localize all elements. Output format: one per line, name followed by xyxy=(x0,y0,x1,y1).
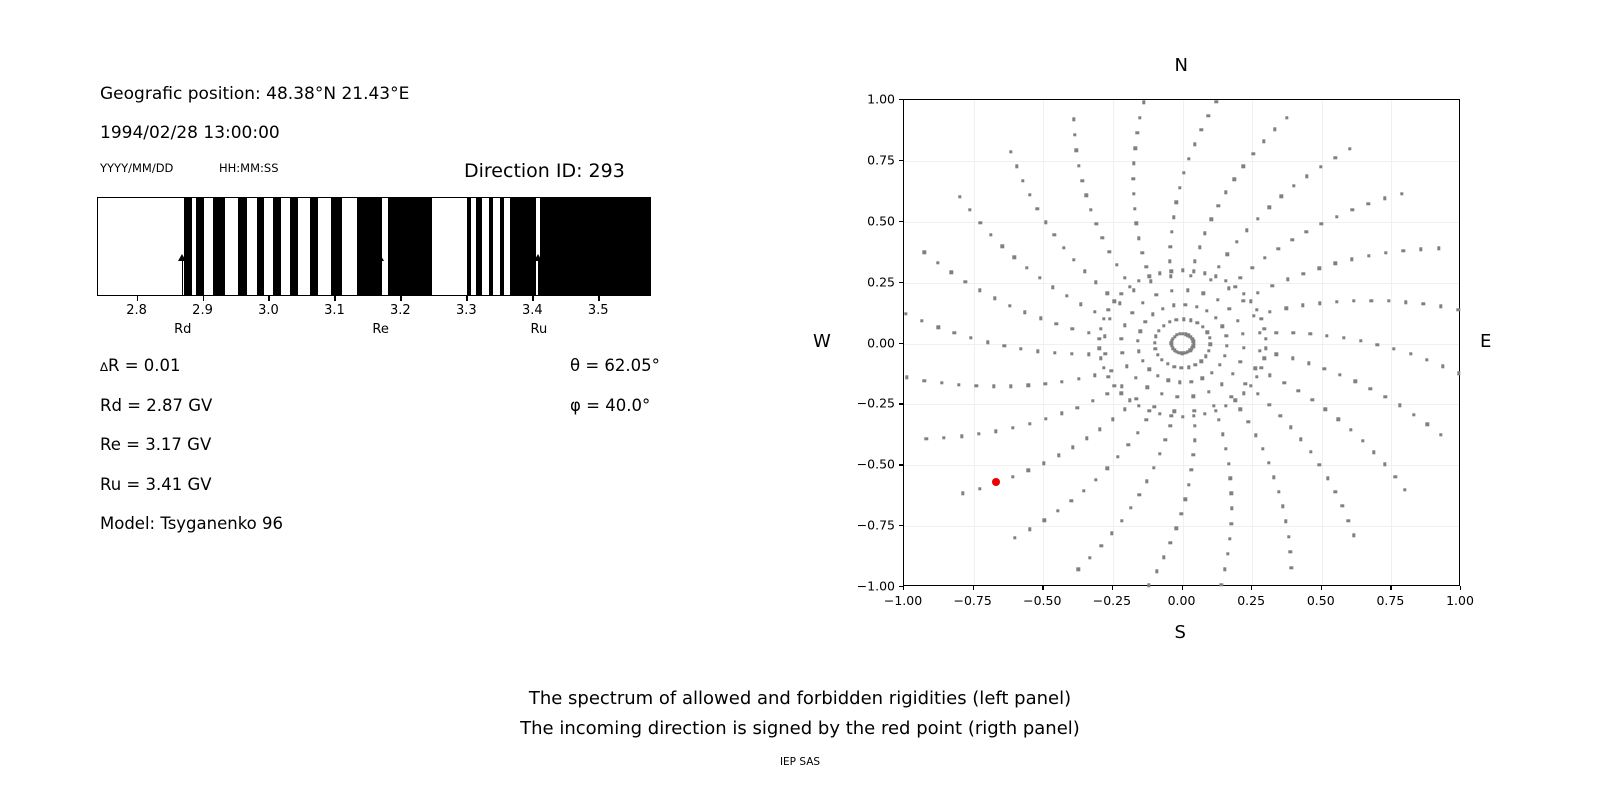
direction-grid-point xyxy=(961,492,964,495)
param-delta-r: ∆R = 0.01 xyxy=(100,356,181,375)
x-axis-tick-label: 1.00 xyxy=(1446,593,1474,608)
direction-grid-point xyxy=(1113,300,1116,303)
forbidden-band xyxy=(213,198,224,295)
direction-grid-point xyxy=(1093,374,1096,377)
direction-grid-point xyxy=(1349,428,1352,431)
direction-grid-point xyxy=(1036,350,1039,353)
direction-grid-point xyxy=(1203,232,1206,235)
direction-grid-point xyxy=(1422,302,1425,305)
direction-grid-point xyxy=(1372,451,1375,454)
direction-grid-point xyxy=(1170,230,1173,233)
direction-grid-point xyxy=(1333,490,1336,493)
direction-grid-point xyxy=(1062,246,1065,249)
direction-grid-point xyxy=(1457,371,1460,374)
direction-grid-point xyxy=(920,319,923,322)
x-axis-tick xyxy=(1251,586,1252,590)
direction-grid-point xyxy=(1264,337,1267,340)
direction-grid-point xyxy=(904,312,907,315)
direction-grid-point xyxy=(1256,217,1259,220)
direction-grid-point xyxy=(924,437,927,440)
direction-grid-point xyxy=(1106,467,1109,470)
direction-grid-point xyxy=(1325,334,1328,337)
direction-grid-point xyxy=(1102,317,1105,320)
direction-grid-point xyxy=(1153,341,1156,344)
direction-grid-point xyxy=(1220,383,1223,386)
direction-grid-point xyxy=(1094,478,1097,481)
direction-grid-point xyxy=(1261,447,1264,450)
direction-grid-point xyxy=(1145,418,1148,421)
direction-grid-point xyxy=(1354,380,1357,383)
direction-grid-point xyxy=(1111,418,1114,421)
direction-grid-point xyxy=(1350,258,1353,261)
x-axis-tick-label: −0.50 xyxy=(1023,593,1061,608)
direction-grid-point xyxy=(1193,424,1196,427)
direction-grid-point xyxy=(1342,336,1345,339)
direction-grid-point xyxy=(1286,278,1289,281)
direction-grid-point xyxy=(1065,294,1068,297)
y-axis-tick xyxy=(899,464,903,465)
direction-grid-point xyxy=(940,381,943,384)
direction-grid-point xyxy=(1252,152,1255,155)
forbidden-band xyxy=(467,198,471,295)
direction-grid-point xyxy=(1118,302,1121,305)
direction-grid-point xyxy=(1207,390,1210,393)
direction-grid-point xyxy=(1158,271,1161,274)
direction-grid-point xyxy=(1001,244,1004,247)
direction-grid-point xyxy=(1324,408,1327,411)
forbidden-band xyxy=(184,198,192,295)
direction-grid-point xyxy=(1251,266,1254,269)
direction-grid-point xyxy=(1056,509,1059,512)
forbidden-band xyxy=(196,198,204,295)
geographic-position-text: Geografic position: 48.38°N 21.43°E xyxy=(100,84,409,104)
direction-grid-point xyxy=(1275,353,1278,356)
direction-grid-point xyxy=(1168,424,1171,427)
arrow-head-icon xyxy=(376,254,384,261)
direction-grid-point xyxy=(1268,403,1271,406)
direction-grid-point xyxy=(1178,332,1181,335)
direction-grid-point xyxy=(1169,245,1172,248)
spectrum-axis-tick xyxy=(400,296,401,301)
gridline-vertical xyxy=(1391,100,1392,585)
direction-grid-point xyxy=(1277,490,1280,493)
direction-grid-point xyxy=(1180,366,1183,369)
direction-grid-point xyxy=(1290,238,1293,241)
direction-grid-point xyxy=(1196,321,1199,324)
direction-grid-point xyxy=(1318,463,1321,466)
direction-grid-point xyxy=(1392,347,1395,350)
direction-grid-point xyxy=(1228,537,1231,540)
direction-grid-point xyxy=(1192,453,1195,456)
direction-grid-point xyxy=(1361,439,1364,442)
direction-grid-point xyxy=(1134,376,1137,379)
y-axis-tick xyxy=(899,343,903,344)
direction-grid-point xyxy=(1137,404,1140,407)
direction-grid-point xyxy=(1271,284,1274,287)
gridline-vertical xyxy=(1043,100,1044,585)
direction-grid-point xyxy=(1249,300,1252,303)
direction-grid-point xyxy=(942,436,945,439)
gridline-horizontal xyxy=(904,222,1459,223)
direction-grid-point xyxy=(1120,385,1123,388)
direction-grid-point xyxy=(960,435,963,438)
direction-grid-point xyxy=(1013,256,1016,259)
x-axis-tick-label: −0.25 xyxy=(1093,593,1131,608)
direction-grid-point xyxy=(936,326,939,329)
direction-grid-point xyxy=(1051,285,1054,288)
x-axis-tick xyxy=(903,586,904,590)
direction-grid-point xyxy=(1087,353,1090,356)
direction-grid-point xyxy=(1132,289,1135,292)
direction-grid-point xyxy=(1398,404,1401,407)
direction-grid-point xyxy=(978,487,981,490)
direction-grid-point xyxy=(1126,443,1129,446)
direction-grid-point xyxy=(1136,339,1139,342)
direction-grid-point xyxy=(1307,361,1310,364)
direction-grid-point xyxy=(1262,140,1265,143)
direction-grid-point xyxy=(957,383,960,386)
direction-grid-point xyxy=(936,261,939,264)
direction-grid-point xyxy=(1264,347,1267,350)
direction-grid-point xyxy=(1181,415,1184,418)
forbidden-band xyxy=(500,198,504,295)
direction-grid-point xyxy=(1400,192,1403,195)
param-delta-r-value: R = 0.01 xyxy=(108,356,181,375)
direction-grid-point xyxy=(1347,519,1350,522)
y-axis-tick xyxy=(899,282,903,283)
rigidity-spectrum-plot xyxy=(97,197,651,296)
direction-grid-point xyxy=(1019,347,1022,350)
direction-grid-point xyxy=(1073,133,1076,136)
spectrum-axis-tick-label: 2.8 xyxy=(126,303,147,318)
spectrum-axis-tick xyxy=(466,296,467,301)
direction-grid-point xyxy=(1203,271,1206,274)
forbidden-band xyxy=(510,198,536,295)
direction-grid-point xyxy=(1072,118,1075,121)
spectrum-axis-tick-label: 3.3 xyxy=(456,303,477,318)
caption-line-2: The incoming direction is signed by the … xyxy=(0,718,1600,739)
spectrum-axis-tick xyxy=(137,296,138,301)
y-axis-tick-label: −0.50 xyxy=(841,457,895,472)
direction-grid-point xyxy=(1223,354,1226,357)
direction-grid-point xyxy=(1132,192,1135,195)
direction-grid-point xyxy=(1089,208,1092,211)
arrow-up-icon xyxy=(380,258,382,296)
spectrum-axis-tick-label: 3.5 xyxy=(588,303,609,318)
direction-grid-point xyxy=(1104,352,1107,355)
direction-grid-point xyxy=(1079,302,1082,305)
direction-grid-point xyxy=(1095,222,1098,225)
direction-grid-point xyxy=(1383,463,1386,466)
direction-grid-point xyxy=(1166,362,1169,365)
direction-grid-point xyxy=(1281,505,1284,508)
direction-id-text: Direction ID: 293 xyxy=(464,160,625,182)
direction-grid-point xyxy=(1199,128,1202,131)
spectrum-marker-label: Rd xyxy=(174,322,191,337)
param-ru: Ru = 3.41 GV xyxy=(100,475,212,494)
direction-grid-point xyxy=(1160,358,1163,361)
direction-grid-point xyxy=(1168,320,1171,323)
direction-grid-point xyxy=(1138,116,1141,119)
direction-grid-point xyxy=(1162,324,1165,327)
forbidden-band xyxy=(238,198,247,295)
direction-grid-point xyxy=(1234,285,1237,288)
direction-grid-point xyxy=(1146,386,1149,389)
direction-grid-point xyxy=(1244,382,1247,385)
direction-grid-point xyxy=(1115,263,1118,266)
direction-grid-point xyxy=(1182,317,1185,320)
direction-grid-point xyxy=(968,208,971,211)
direction-grid-point xyxy=(1123,324,1126,327)
direction-grid-point xyxy=(1156,353,1159,356)
direction-grid-point xyxy=(1289,426,1292,429)
direction-grid-point xyxy=(1287,535,1290,538)
direction-grid-point xyxy=(905,376,908,379)
direction-grid-point xyxy=(1021,179,1024,182)
gridline-horizontal xyxy=(904,404,1459,405)
direction-grid-point xyxy=(1221,433,1224,436)
direction-grid-point xyxy=(1234,398,1237,401)
direction-grid-point xyxy=(1292,184,1295,187)
direction-grid-point xyxy=(1439,433,1442,436)
direction-grid-point xyxy=(1157,329,1160,332)
direction-grid-point xyxy=(1154,335,1157,338)
direction-grid-point xyxy=(1176,395,1179,398)
direction-grid-point xyxy=(1317,266,1320,269)
forbidden-band xyxy=(388,198,432,295)
direction-grid-point xyxy=(1169,269,1172,272)
direction-grid-point xyxy=(1189,274,1192,277)
footer-credit: IEP SAS xyxy=(0,756,1600,768)
direction-grid-point xyxy=(1279,414,1282,417)
direction-grid-point xyxy=(1081,179,1084,182)
direction-grid-point xyxy=(1217,418,1220,421)
direction-grid-point xyxy=(1055,322,1058,325)
direction-grid-point xyxy=(1310,398,1313,401)
direction-grid-point xyxy=(1242,292,1245,295)
direction-grid-point xyxy=(1147,368,1150,371)
direction-grid-point xyxy=(1009,385,1012,388)
direction-grid-point xyxy=(1393,475,1396,478)
direction-grid-point xyxy=(1195,305,1198,308)
direction-grid-point xyxy=(1133,207,1136,210)
direction-grid-point xyxy=(1028,422,1031,425)
direction-grid-point xyxy=(1184,303,1187,306)
direction-grid-point xyxy=(1229,522,1232,525)
direction-grid-point xyxy=(1273,128,1276,131)
direction-grid-point xyxy=(1145,480,1148,483)
direction-grid-point xyxy=(1235,240,1238,243)
direction-grid-point xyxy=(1247,420,1250,423)
direction-grid-point xyxy=(1167,379,1170,382)
direction-grid-point xyxy=(1210,371,1213,374)
direction-grid-point xyxy=(1238,276,1241,279)
compass-label-south: S xyxy=(1175,622,1186,643)
direction-grid-point xyxy=(1203,412,1206,415)
direction-grid-point xyxy=(1077,164,1080,167)
direction-grid-point xyxy=(1170,289,1173,292)
direction-map-plot xyxy=(903,99,1460,586)
y-axis-tick-label: −1.00 xyxy=(841,579,895,594)
direction-grid-point xyxy=(1263,357,1266,360)
direction-grid-point xyxy=(1223,568,1226,571)
direction-grid-point xyxy=(1334,262,1337,265)
x-axis-tick xyxy=(1321,586,1322,590)
direction-grid-point xyxy=(1238,407,1241,410)
direction-grid-point xyxy=(992,385,995,388)
direction-grid-point xyxy=(1108,317,1111,320)
direction-grid-point xyxy=(1129,506,1132,509)
direction-grid-point xyxy=(1242,346,1245,349)
arrow-up-icon xyxy=(538,258,540,296)
direction-grid-point xyxy=(1141,251,1144,254)
direction-grid-point xyxy=(1412,413,1415,416)
direction-grid-point xyxy=(1242,165,1245,168)
direction-grid-point xyxy=(1340,504,1343,507)
direction-grid-point xyxy=(1070,499,1073,502)
x-axis-tick-label: −0.75 xyxy=(953,593,991,608)
caption-line-1: The spectrum of allowed and forbidden ri… xyxy=(0,688,1600,709)
direction-grid-point xyxy=(1156,374,1159,377)
direction-grid-point xyxy=(1333,156,1336,159)
direction-grid-point xyxy=(1359,339,1362,342)
y-axis-tick-label: 0.75 xyxy=(841,152,895,167)
y-axis-tick-label: 0.25 xyxy=(841,274,895,289)
direction-grid-point xyxy=(1172,304,1175,307)
direction-grid-point xyxy=(1220,583,1223,586)
direction-grid-point xyxy=(1192,414,1195,417)
direction-grid-point xyxy=(1160,392,1163,395)
time-format-hint: HH:MM:SS xyxy=(219,161,279,175)
direction-grid-point xyxy=(1290,566,1293,569)
direction-grid-point xyxy=(1403,488,1406,491)
direction-grid-point xyxy=(1260,317,1263,320)
direction-grid-point xyxy=(1258,349,1261,352)
direction-grid-point xyxy=(1075,149,1078,152)
direction-grid-point xyxy=(989,233,992,236)
direction-grid-point xyxy=(1053,233,1056,236)
y-axis-tick xyxy=(899,99,903,100)
direction-grid-point xyxy=(1116,455,1119,458)
direction-grid-point xyxy=(1218,363,1221,366)
direction-grid-point xyxy=(1335,215,1338,218)
direction-grid-point xyxy=(1178,186,1181,189)
direction-grid-point xyxy=(1120,392,1123,395)
direction-grid-point xyxy=(950,271,953,274)
direction-grid-point xyxy=(1038,276,1041,279)
param-rd: Rd = 2.87 GV xyxy=(100,396,212,415)
direction-grid-point xyxy=(1201,377,1204,380)
direction-grid-point xyxy=(1093,310,1096,313)
y-axis-tick xyxy=(899,221,903,222)
forbidden-band xyxy=(290,198,298,295)
direction-grid-point xyxy=(1169,274,1172,277)
direction-grid-point xyxy=(1100,544,1103,547)
direction-grid-point xyxy=(1277,247,1280,250)
x-axis-tick-label: 0.25 xyxy=(1237,593,1265,608)
direction-grid-point xyxy=(1123,407,1126,410)
forbidden-band xyxy=(257,198,264,295)
direction-grid-point xyxy=(1384,251,1387,254)
direction-grid-point xyxy=(1181,269,1184,272)
direction-grid-point xyxy=(1094,281,1097,284)
direction-grid-point xyxy=(1187,157,1190,160)
direction-grid-point xyxy=(986,341,989,344)
compass-label-west: W xyxy=(813,331,831,352)
direction-grid-point xyxy=(1015,165,1018,168)
direction-grid-point xyxy=(1128,398,1131,401)
direction-grid-point xyxy=(1181,352,1184,355)
direction-grid-point xyxy=(1172,215,1175,218)
direction-grid-point xyxy=(1169,414,1172,417)
direction-grid-point xyxy=(1320,222,1323,225)
left-panel: Geografic position: 48.38°N 21.43°E 1994… xyxy=(0,0,800,800)
direction-grid-point xyxy=(1216,298,1219,301)
arrow-head-icon xyxy=(534,254,542,261)
direction-grid-point xyxy=(1268,373,1271,376)
direction-grid-point xyxy=(1136,131,1139,134)
direction-grid-point xyxy=(1085,437,1088,440)
direction-grid-point xyxy=(1193,260,1196,263)
direction-grid-point xyxy=(1099,357,1102,360)
direction-grid-point xyxy=(1103,334,1106,337)
direction-grid-point xyxy=(1083,270,1086,273)
direction-grid-point xyxy=(1137,236,1140,239)
direction-grid-point xyxy=(1299,438,1302,441)
direction-grid-point xyxy=(1098,427,1101,430)
y-axis-tick-label: 1.00 xyxy=(841,92,895,107)
direction-grid-point xyxy=(1071,327,1074,330)
direction-grid-point xyxy=(1227,287,1230,290)
direction-grid-point xyxy=(1348,147,1351,150)
direction-grid-point xyxy=(1168,260,1171,263)
spectrum-axis-tick-label: 2.9 xyxy=(192,303,213,318)
direction-grid-point xyxy=(1125,365,1128,368)
direction-grid-point xyxy=(953,331,956,334)
direction-grid-point xyxy=(1216,204,1219,207)
direction-grid-point xyxy=(1238,360,1241,363)
direction-grid-point xyxy=(1226,552,1229,555)
direction-grid-point xyxy=(1352,299,1355,302)
direction-grid-point xyxy=(1226,253,1229,256)
direction-grid-point xyxy=(1292,331,1295,334)
direction-grid-point xyxy=(1212,404,1215,407)
direction-grid-point xyxy=(1187,366,1190,369)
direction-grid-point xyxy=(1027,384,1030,387)
gridline-horizontal xyxy=(904,465,1459,466)
direction-grid-point xyxy=(1214,316,1217,319)
direction-grid-point xyxy=(1174,201,1177,204)
direction-grid-point xyxy=(1161,307,1164,310)
direction-grid-point xyxy=(1409,352,1412,355)
direction-grid-point xyxy=(1028,528,1031,531)
forbidden-band xyxy=(310,198,317,295)
incoming-direction-point xyxy=(992,478,1000,486)
direction-grid-point xyxy=(1263,256,1266,259)
param-phi: φ = 40.0° xyxy=(570,396,650,415)
arrow-up-icon xyxy=(182,258,184,296)
direction-grid-point xyxy=(1158,452,1161,455)
direction-grid-point xyxy=(1225,344,1228,347)
direction-grid-point xyxy=(1245,228,1248,231)
direction-grid-point xyxy=(1137,493,1140,496)
direction-grid-point xyxy=(1193,409,1196,412)
direction-grid-point xyxy=(1154,347,1157,350)
direction-grid-point xyxy=(1120,351,1123,354)
direction-grid-point xyxy=(1305,174,1308,177)
forbidden-band xyxy=(540,198,651,295)
direction-grid-point xyxy=(1297,389,1300,392)
